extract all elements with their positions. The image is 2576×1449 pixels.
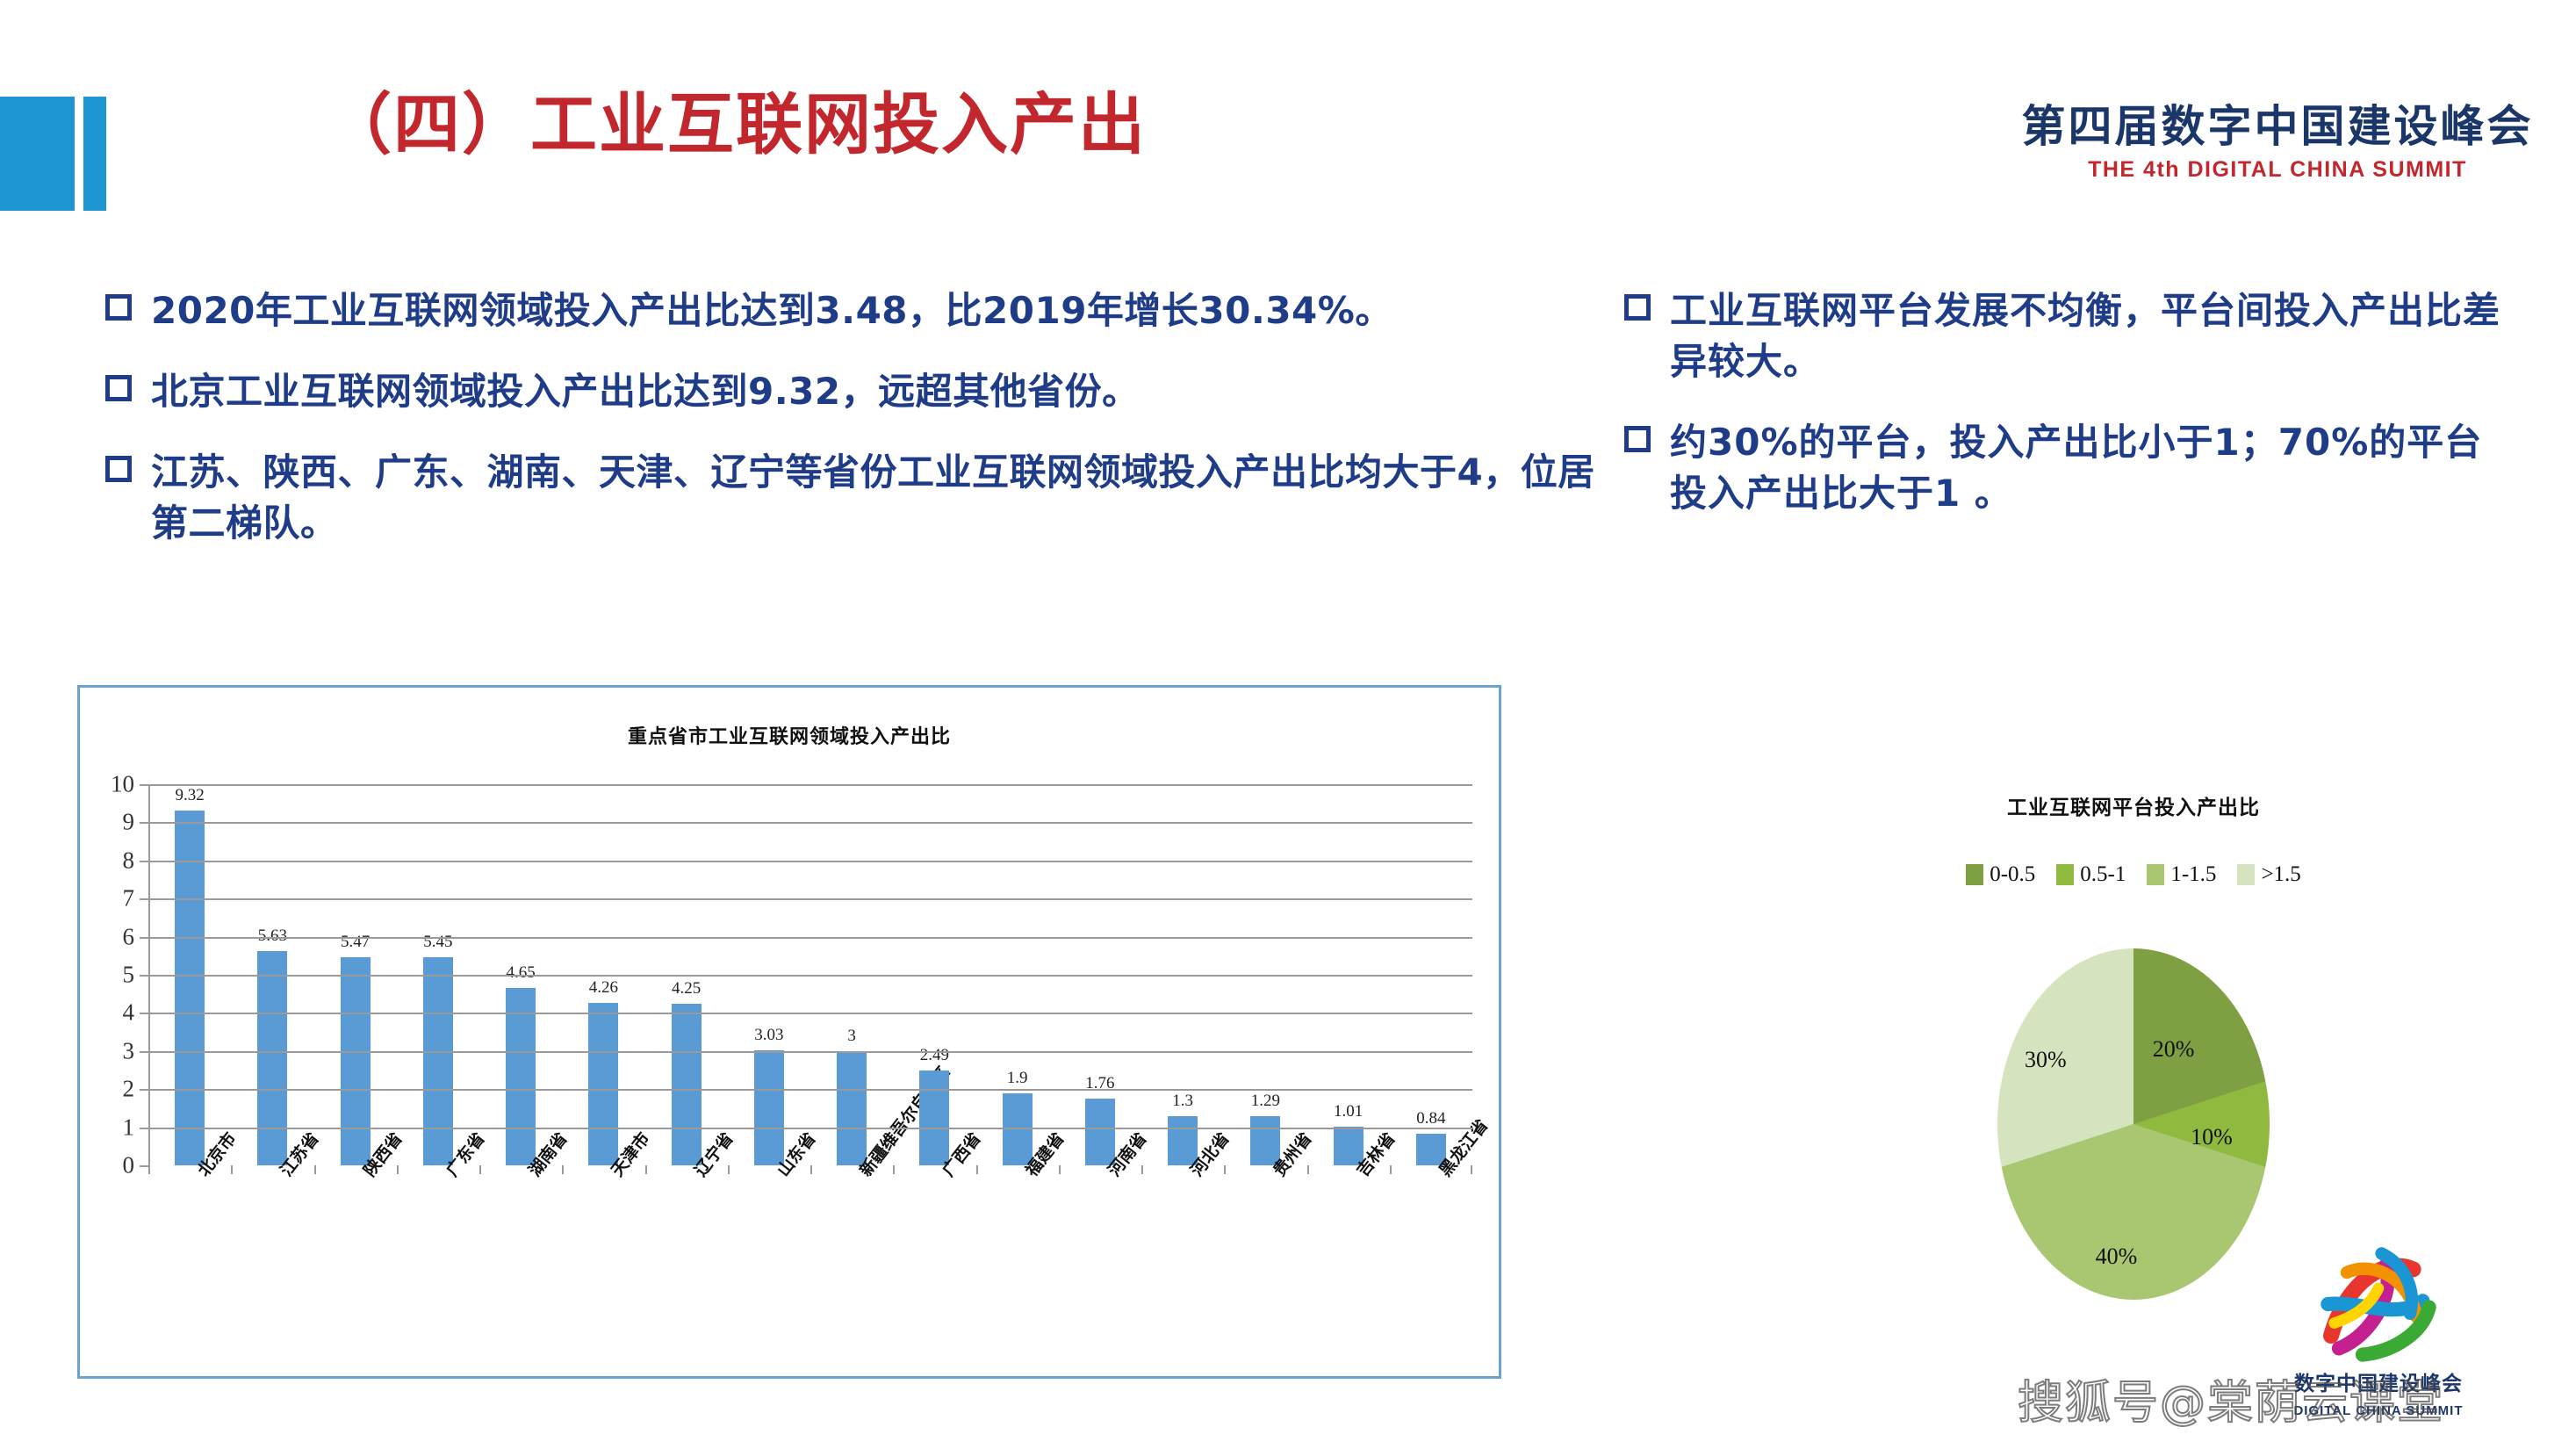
bar-chart-y-tick-label: 3	[123, 1037, 135, 1064]
bar-chart-gridline	[148, 861, 1472, 862]
bar-chart-y-tick	[140, 784, 148, 786]
bullet-left-item: 江苏、陕西、广东、湖南、天津、辽宁等省份工业互联网领域投入产出比均大于4，位居第…	[105, 447, 1598, 549]
bar-chart-gridline	[148, 898, 1472, 900]
bar-chart-y-tick	[140, 937, 148, 939]
bullet-square-icon	[105, 456, 132, 482]
bullet-square-icon	[105, 375, 132, 401]
bullet-left-item: 北京工业互联网领域投入产出比达到9.32，远超其他省份。	[105, 366, 1598, 417]
pie-legend-item[interactable]: 0.5-1	[2056, 862, 2126, 887]
bar-chart-x-tick	[314, 1165, 316, 1174]
bar-chart-y-axis: 012345678910	[80, 784, 141, 1165]
bar-chart-y-tick	[140, 1128, 148, 1129]
bar-chart-x-tick	[1307, 1165, 1309, 1174]
pie-chart-title: 工业互联网平台投入产出比	[1826, 790, 2441, 820]
bar-chart-x-tick	[976, 1165, 978, 1174]
bar-chart-y-tick-label: 7	[123, 885, 135, 912]
pie-legend-swatch	[2147, 864, 2164, 885]
bar-chart-y-tick-label: 6	[123, 923, 135, 950]
pie-legend-label: 0-0.5	[1990, 862, 2035, 887]
bullet-text: 约30%的平台，投入产出比小于1；70%的平台投入产出比大于1 。	[1670, 417, 2520, 519]
bar-chart-x-tick	[728, 1165, 730, 1174]
bar-chart-y-tick-label: 2	[123, 1076, 135, 1103]
bar-chart-y-tick-label: 9	[123, 809, 135, 836]
bar-chart-value-label: 1.29	[1251, 1092, 1280, 1111]
bar-chart-x-tick	[1141, 1165, 1143, 1174]
bar-chart-y-tick	[140, 975, 148, 977]
bar-chart-y-tick-label: 8	[123, 847, 135, 874]
page-title: （四）工业互联网投入产出	[325, 70, 1466, 167]
summit-logo-en: THE 4th DIGITAL CHINA SUMMIT	[2014, 157, 2541, 183]
bullet-text: 2020年工业互联网领域投入产出比达到3.48，比2019年增长30.34%。	[151, 285, 1392, 336]
summit-emblem-icon	[2295, 1225, 2462, 1383]
pie-chart-legend: 0-0.50.5-11-1.5>1.5	[1826, 862, 2441, 887]
bar-chart-bar[interactable]	[672, 1004, 702, 1165]
bullet-square-icon	[105, 294, 132, 321]
bar-chart-gridline	[148, 1013, 1472, 1014]
bar-chart-gridline	[148, 784, 1472, 786]
bar-chart-gridline	[148, 1128, 1472, 1129]
pie-chart-figure: 20%10%40%30%	[1997, 948, 2270, 1300]
bar-chart-bar[interactable]	[754, 1050, 784, 1166]
bullet-right-item: 工业互联网平台发展不均衡，平台间投入产出比差异较大。	[1624, 285, 2520, 387]
pie-legend-item[interactable]: 1-1.5	[2147, 862, 2216, 887]
bar-chart-x-tick	[148, 1165, 150, 1174]
bar-chart-y-tick	[140, 822, 148, 824]
bar-chart-bar[interactable]	[919, 1071, 949, 1165]
bar-chart-value-label: 9.32	[176, 786, 205, 805]
pie-slice-label: 30%	[2025, 1047, 2067, 1073]
bar-chart-y-tick-label: 0	[123, 1152, 135, 1179]
bar-chart-value-label: 0.84	[1416, 1109, 1445, 1128]
bullet-square-icon	[1624, 294, 1651, 321]
bar-chart-bar[interactable]	[257, 951, 287, 1165]
bar-chart-gridline	[148, 975, 1472, 977]
bar-chart-value-label: 3.03	[754, 1026, 783, 1045]
bar-chart-gridline	[148, 1051, 1472, 1053]
bar-chart-y-tick	[140, 1165, 148, 1167]
watermark: 搜狐号@棠荫云课堂	[2018, 1366, 2444, 1431]
pie-slice-label: 40%	[2096, 1244, 2138, 1270]
pie-legend-label: >1.5	[2261, 862, 2300, 887]
bullet-text: 北京工业互联网领域投入产出比达到9.32，远超其他省份。	[151, 366, 1140, 417]
bar-chart-y-tick	[140, 1051, 148, 1053]
bullet-text: 江苏、陕西、广东、湖南、天津、辽宁等省份工业互联网领域投入产出比均大于4，位居第…	[151, 447, 1598, 549]
decor-bar-thin	[83, 97, 106, 211]
bar-chart-value-label: 3	[847, 1027, 856, 1046]
bar-chart-x-tick	[1059, 1165, 1061, 1174]
summit-logo-cn: 第四届数字中国建设峰会	[2014, 104, 2541, 150]
summit-logo: 第四届数字中国建设峰会 THE 4th DIGITAL CHINA SUMMIT	[2014, 104, 2541, 183]
bar-chart-gridline	[148, 937, 1472, 939]
bar-chart-x-tick	[479, 1165, 481, 1174]
pie-legend-swatch	[2056, 864, 2074, 885]
bar-chart-x-tick	[810, 1165, 812, 1174]
bar-chart-bar[interactable]	[175, 811, 205, 1165]
pie-legend-label: 1-1.5	[2170, 862, 2216, 887]
bar-chart-gridline	[148, 1089, 1472, 1091]
bar-chart-value-label: 4.65	[507, 963, 536, 983]
bullet-list-right: 工业互联网平台发展不均衡，平台间投入产出比差异较大。约30%的平台，投入产出比小…	[1624, 285, 2520, 549]
bar-chart-value-label: 5.47	[341, 933, 370, 952]
bar-chart-x-tick	[645, 1165, 647, 1174]
pie-legend-swatch	[2237, 864, 2255, 885]
pie-legend-label: 0.5-1	[2080, 862, 2126, 887]
bar-chart-x-tick	[1471, 1165, 1472, 1174]
bar-chart-y-tick-label: 10	[111, 771, 134, 798]
bar-chart-bar[interactable]	[506, 988, 536, 1165]
bar-chart-x-tick	[397, 1165, 399, 1174]
bar-chart-gridline	[148, 822, 1472, 824]
bullet-square-icon	[1624, 426, 1651, 452]
bar-chart-plot-area: 9.32北京市5.63江苏省5.47陕西省5.45广东省4.65湖南省4.26天…	[148, 784, 1472, 1165]
pie-slice-label: 10%	[2191, 1124, 2233, 1150]
bullet-left-item: 2020年工业互联网领域投入产出比达到3.48，比2019年增长30.34%。	[105, 285, 1598, 336]
pie-legend-swatch	[1966, 864, 1983, 885]
bar-chart-bar[interactable]	[588, 1003, 618, 1165]
bar-chart-bar[interactable]	[423, 957, 453, 1165]
bar-chart-value-label: 4.26	[589, 978, 618, 998]
bar-chart-y-tick-label: 1	[123, 1114, 135, 1141]
bar-chart-x-tick	[1390, 1165, 1392, 1174]
bar-chart-value-label: 1.9	[1007, 1069, 1028, 1088]
bar-chart-value-label: 1.01	[1334, 1102, 1363, 1121]
bar-chart-x-tick	[1224, 1165, 1226, 1174]
bullet-right-item: 约30%的平台，投入产出比小于1；70%的平台投入产出比大于1 。	[1624, 417, 2520, 519]
bar-chart-bar[interactable]	[341, 957, 371, 1165]
bullet-list-left: 2020年工业互联网领域投入产出比达到3.48，比2019年增长30.34%。北…	[105, 285, 1598, 579]
bar-chart-x-tick	[562, 1165, 564, 1174]
bar-chart-y-tick-label: 5	[123, 962, 135, 989]
bar-chart-x-tick	[231, 1165, 233, 1174]
bar-chart-value-label: 4.25	[672, 979, 701, 998]
bar-chart-panel: 重点省市工业互联网领域投入产出比 012345678910 9.32北京市5.6…	[77, 685, 1501, 1379]
pie-slice-label: 20%	[2153, 1036, 2195, 1063]
bar-chart-y-tick	[140, 898, 148, 900]
bar-chart-title: 重点省市工业互联网领域投入产出比	[80, 721, 1499, 749]
bullet-text: 工业互联网平台发展不均衡，平台间投入产出比差异较大。	[1670, 285, 2520, 387]
bar-chart-value-label: 1.3	[1172, 1092, 1193, 1111]
bar-chart-value-label: 2.49	[920, 1046, 949, 1065]
decor-bar-wide	[0, 97, 75, 211]
bar-chart-bar[interactable]	[837, 1051, 867, 1165]
bar-chart-x-tick	[893, 1165, 895, 1174]
pie-legend-item[interactable]: 0-0.5	[1966, 862, 2035, 887]
pie-legend-item[interactable]: >1.5	[2237, 862, 2300, 887]
bar-chart-y-tick	[140, 1089, 148, 1091]
bar-chart-y-tick	[140, 1013, 148, 1014]
bar-chart-y-tick-label: 4	[123, 999, 135, 1027]
bar-chart-y-tick	[140, 861, 148, 862]
